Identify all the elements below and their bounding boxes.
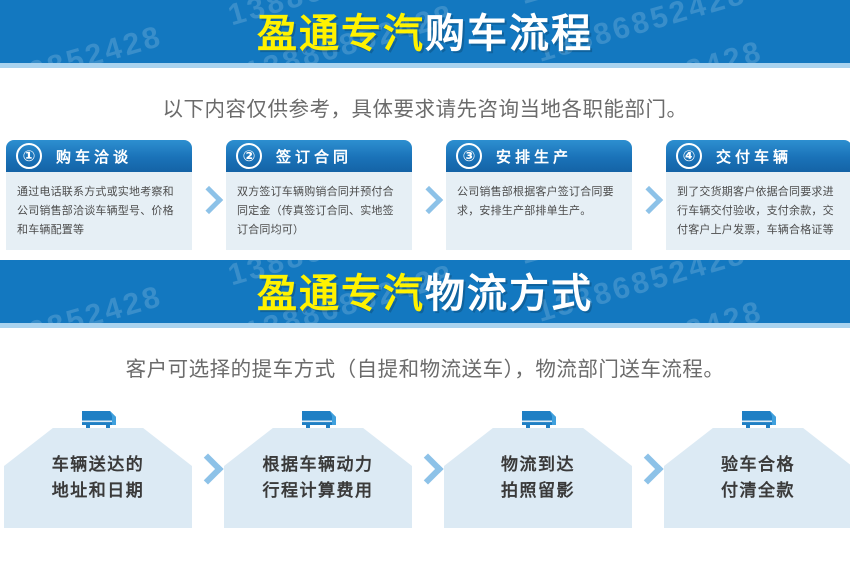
- logistics-banner-title: 盈通专汽物流方式: [257, 274, 593, 314]
- step-header: ① 购车洽谈: [6, 140, 192, 172]
- purchase-steps-row: ① 购车洽谈 通过电话联系方式或实地考察和公司销售部洽谈车辆型号、价格和车辆配置…: [0, 132, 850, 254]
- step-number-badge: ①: [16, 143, 42, 169]
- logistics-caption: 客户可选择的提车方式（自提和物流送车），物流部门送车流程。: [0, 328, 850, 392]
- logistics-card: 根据车辆动力 行程计算费用: [224, 410, 412, 528]
- step-separator: [412, 190, 446, 210]
- step-card: ① 购车洽谈 通过电话联系方式或实地考察和公司销售部洽谈车辆型号、价格和车辆配置…: [6, 140, 192, 250]
- banner-heading: 购车流程: [425, 12, 593, 56]
- logistics-card-line1: 车辆送达的: [52, 452, 145, 478]
- brand-name: 盈通专汽: [257, 12, 425, 56]
- brand-name: 盈通专汽: [257, 272, 425, 316]
- logistics-card-line2: 行程计算费用: [263, 478, 374, 504]
- logistics-card-body: 物流到达 拍照留影: [444, 428, 632, 528]
- step-number-badge: ④: [676, 143, 702, 169]
- logistics-card-line1: 验车合格: [721, 452, 795, 478]
- step-number-badge: ③: [456, 143, 482, 169]
- logistics-card-line2: 付清全款: [721, 478, 795, 504]
- chevron-right-icon: [192, 453, 223, 484]
- logistics-card: 车辆送达的 地址和日期: [4, 410, 192, 528]
- logistics-card-body: 验车合格 付清全款: [664, 428, 850, 528]
- chevron-right-icon: [195, 186, 223, 214]
- purchase-banner: 138868524281388685242813886852428 138868…: [0, 0, 850, 68]
- banner-heading: 物流方式: [425, 272, 593, 316]
- step-header: ② 签订合同: [226, 140, 412, 172]
- watermark-text: 13886852428: [258, 56, 475, 68]
- step-header: ③ 安排生产: [446, 140, 632, 172]
- watermark-text: 13886852428: [0, 20, 166, 68]
- logistics-card-body: 根据车辆动力 行程计算费用: [224, 428, 412, 528]
- logistics-card: 验车合格 付清全款: [664, 410, 850, 528]
- logistics-separator: [632, 410, 664, 528]
- step-card: ② 签订合同 双方签订车辆购销合同并预付合同定金（传真签订合同、实地签订合同均可…: [226, 140, 412, 250]
- chevron-right-icon: [415, 186, 443, 214]
- step-number-badge: ②: [236, 143, 262, 169]
- logistics-separator: [192, 410, 224, 528]
- logistics-card-line2: 地址和日期: [52, 478, 145, 504]
- step-card: ④ 交付车辆 到了交货期客户依据合同要求进行车辆交付验收，支付余款，交付客户上户…: [666, 140, 850, 250]
- logistics-card-line1: 物流到达: [501, 452, 575, 478]
- infographic-page: 138868524281388685242813886852428 138868…: [0, 0, 850, 564]
- step-separator: [192, 190, 226, 210]
- step-title: 购车洽谈: [56, 146, 132, 167]
- truck-icon: [516, 408, 562, 432]
- purchase-caption: 以下内容仅供参考，具体要求请先咨询当地各职能部门。: [0, 68, 850, 132]
- watermark-text: 13886852428: [517, 260, 734, 271]
- step-body-text: 双方签订车辆购销合同并预付合同定金（传真签订合同、实地签订合同均可）: [226, 172, 412, 250]
- chevron-right-icon: [635, 186, 663, 214]
- step-body-text: 通过电话联系方式或实地考察和公司销售部洽谈车辆型号、价格和车辆配置等: [6, 172, 192, 250]
- truck-icon: [736, 408, 782, 432]
- chevron-right-icon: [412, 453, 443, 484]
- step-card: ③ 安排生产 公司销售部根据客户签订合同要求，安排生产部排单生产。: [446, 140, 632, 250]
- step-body-text: 公司销售部根据客户签订合同要求，安排生产部排单生产。: [446, 172, 632, 250]
- truck-icon: [76, 408, 122, 432]
- logistics-separator: [412, 410, 444, 528]
- step-header: ④ 交付车辆: [666, 140, 850, 172]
- step-title: 交付车辆: [716, 146, 792, 167]
- watermark-text: 13886852428: [258, 316, 475, 328]
- logistics-card: 物流到达 拍照留影: [444, 410, 632, 528]
- logistics-cards-row: 车辆送达的 地址和日期 根据车辆动力 行程计算费用: [0, 392, 850, 546]
- step-title: 签订合同: [276, 146, 352, 167]
- logistics-card-line2: 拍照留影: [501, 478, 575, 504]
- step-title: 安排生产: [496, 146, 572, 167]
- watermark-text: 13886852428: [0, 280, 166, 328]
- logistics-card-body: 车辆送达的 地址和日期: [4, 428, 192, 528]
- truck-icon: [296, 408, 342, 432]
- logistics-banner: 138868524281388685242813886852428 138868…: [0, 260, 850, 328]
- purchase-banner-title: 盈通专汽购车流程: [257, 14, 593, 54]
- watermark-text: 13886852428: [517, 0, 734, 11]
- step-separator: [632, 190, 666, 210]
- logistics-card-line1: 根据车辆动力: [263, 452, 374, 478]
- step-body-text: 到了交货期客户依据合同要求进行车辆交付验收，支付余款，交付客户上户发票，车辆合格…: [666, 172, 850, 250]
- chevron-right-icon: [632, 453, 663, 484]
